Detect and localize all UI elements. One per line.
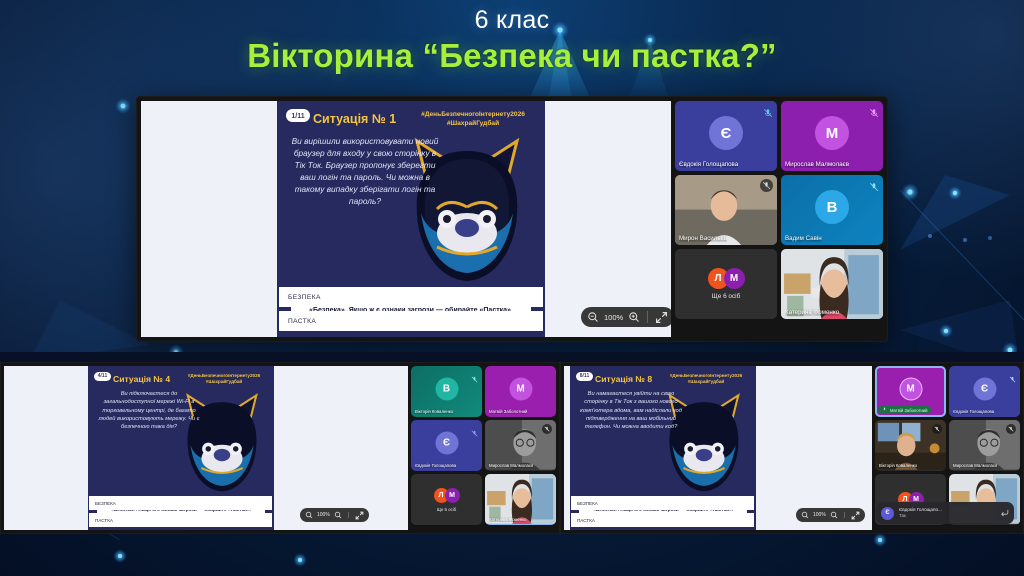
participant-tile[interactable]: Мирослав Малмолаєв <box>949 420 1020 471</box>
background-band <box>0 352 1024 362</box>
slide-hashtags: #ДеньБезпечногоІнтернету2026 #ШахрайГудб… <box>403 111 543 129</box>
hashtag-2: #ШахрайГудбай <box>658 379 754 385</box>
avatar-initial: М <box>906 384 914 395</box>
active-speaker-name-pill: Матвій Заболотний <box>878 406 931 414</box>
slide-situation-title: Ситуація № 1 <box>313 112 396 126</box>
chat-notification-toast[interactable]: Є Євдокія Голощапо... Так <box>876 502 1014 524</box>
slide-situation-title: Ситуація № 8 <box>595 374 652 384</box>
participant-name: Мирослав Малмолаєв <box>489 463 533 468</box>
avatar: Є <box>435 432 458 455</box>
participant-name: Вадим Савін <box>785 235 822 242</box>
overflow-count-label: Ще 6 осіб <box>437 507 457 512</box>
zoom-control-bar[interactable]: 100% <box>581 307 671 327</box>
slide-situation-title: Ситуація № 4 <box>113 374 170 384</box>
reply-icon[interactable] <box>1000 504 1009 522</box>
hashtag-2: #ШахрайГудбай <box>176 379 272 385</box>
mic-muted-icon <box>760 179 773 192</box>
avatar: В <box>435 378 458 401</box>
page-subtitle: 6 клас <box>0 6 1024 35</box>
participant-tile[interactable]: М Матвій Заболотний <box>875 366 946 417</box>
participants-rail-thumb-right: М Матвій Заболотний Є Євдокія Голощапова <box>872 366 1020 530</box>
participant-tile[interactable]: В Вадим Савін <box>781 175 883 245</box>
slide-question-text: Ви вирішили використовувати новий браузе… <box>291 135 439 207</box>
mic-muted-icon <box>763 105 773 123</box>
zoom-control-bar[interactable]: 100% <box>796 508 865 522</box>
avatar: Є <box>973 378 996 401</box>
mic-muted-icon <box>542 424 552 434</box>
mic-muted-icon <box>471 424 478 442</box>
main-meeting-window: 1/11 Ситуація № 1 #ДеньБезпечногоІнтерне… <box>136 96 888 342</box>
answer-option-bezpeka[interactable]: БЕЗПЕКА <box>89 496 272 510</box>
participant-tile[interactable]: М Мирослав Малмолаєв <box>781 101 883 171</box>
participant-tile[interactable]: Вікторія Коваленко <box>875 420 946 471</box>
participant-tile[interactable]: Катерина Фоменко <box>781 249 883 319</box>
zoom-out-icon[interactable] <box>305 511 313 519</box>
zoom-divider <box>647 311 648 323</box>
avatar-initial: М <box>516 384 524 395</box>
mic-muted-icon <box>932 424 942 434</box>
zoom-level-label: 100% <box>317 512 330 518</box>
avatar: М <box>509 378 532 401</box>
thumb-right-shared-screen: 8/11 Ситуація № 8 #ДеньБезпечногоІнтерне… <box>564 366 872 530</box>
zoom-control-bar[interactable]: 100% <box>300 508 369 522</box>
slide-question-text: Ви підключаєтеся до загальнодоступної ме… <box>97 390 201 431</box>
zoom-in-icon[interactable] <box>830 511 838 519</box>
overflow-avatar-2: М <box>445 488 460 503</box>
participant-name: Вікторія Коваленко <box>415 409 453 414</box>
participant-tile[interactable]: М Матвій Заболотний <box>485 366 556 417</box>
avatar: М <box>899 378 922 401</box>
thumbnail-meeting-window-left[interactable]: 4/11 Ситуація № 4 #ДеньБезпечногоІнтерне… <box>0 362 560 534</box>
participant-name: Вікторія Коваленко <box>879 463 917 468</box>
overflow-avatars: Л М <box>708 268 745 289</box>
slide-counter-badge: 4/11 <box>94 372 111 381</box>
slide-hashtags: #ДеньБезпечногоІнтернету2026 #ШахрайГудб… <box>176 373 272 385</box>
participant-tile[interactable]: Є Євдокія Голощапова <box>411 420 482 471</box>
answer-option-pastka-label: ПАСТКА <box>95 518 113 523</box>
hashtag-2: #ШахрайГудбай <box>403 120 543 129</box>
participant-tile[interactable]: Є Євдокія Голощапова <box>675 101 777 171</box>
overflow-avatar-2: М <box>724 268 745 289</box>
answer-option-bezpeka-label: БЕЗПЕКА <box>95 501 116 506</box>
avatar: М <box>815 116 849 150</box>
zoom-out-icon[interactable] <box>801 511 809 519</box>
avatar-initial: В <box>443 384 450 395</box>
mic-muted-icon <box>869 179 879 197</box>
thumb-left-shared-screen: 4/11 Ситуація № 4 #ДеньБезпечногоІнтерне… <box>4 366 408 530</box>
avatar-initial: Є <box>981 384 988 395</box>
participant-tile[interactable]: Мирослав Малмолаєв <box>485 420 556 471</box>
avatar-initial: Є <box>721 125 732 142</box>
participant-name: Мирослав Малмолаєв <box>953 463 997 468</box>
zoom-in-icon[interactable] <box>334 511 342 519</box>
zoom-in-icon[interactable] <box>628 311 640 323</box>
participant-name: Євдокія Голощапова <box>679 161 738 168</box>
zoom-out-icon[interactable] <box>587 311 599 323</box>
participant-tile[interactable]: Катерина Фоменко <box>485 474 556 525</box>
mic-muted-icon <box>1009 370 1016 388</box>
slide-hashtags: #ДеньБезпечногоІнтернету2026 #ШахрайГудб… <box>658 373 754 385</box>
fullscreen-icon[interactable] <box>655 311 668 324</box>
mic-muted-icon <box>1006 424 1016 434</box>
answer-option-pastka-label: ПАСТКА <box>577 518 595 523</box>
avatar-initial: Є <box>885 510 889 516</box>
mic-muted-icon <box>869 105 879 123</box>
chat-message-text: Так <box>899 513 995 519</box>
participant-overflow-tile[interactable]: Л М Ще 6 осіб <box>675 249 777 319</box>
answer-option-pastka-label: ПАСТКА <box>288 318 316 325</box>
zoom-level-label: 100% <box>604 313 623 322</box>
participant-tile[interactable]: Мирон Васильєв <box>675 175 777 245</box>
participant-name: Катерина Фоменко <box>489 517 527 522</box>
avatar-initial: В <box>827 199 838 216</box>
participant-name: Мирон Васильєв <box>679 235 727 242</box>
overflow-avatars: Л М <box>434 488 460 503</box>
answer-option-pastka[interactable]: ПАСТКА <box>89 513 272 527</box>
answer-option-bezpeka-label: БЕЗПЕКА <box>577 501 598 506</box>
fullscreen-icon[interactable] <box>355 511 364 520</box>
mic-muted-icon <box>471 370 478 388</box>
participants-rail-main: Є Євдокія Голощапова М Мирослав Малмолає… <box>671 101 883 337</box>
avatar: Є <box>881 507 894 520</box>
answer-option-pastka[interactable]: ПАСТКА <box>279 311 543 331</box>
answer-option-pastka[interactable]: ПАСТКА <box>571 513 754 527</box>
answer-option-bezpeka-label: БЕЗПЕКА <box>288 294 321 301</box>
participants-rail-thumb-left: В Вікторія Коваленко М Матвій Заболотний… <box>408 366 556 530</box>
avatar-initial: М <box>826 125 839 142</box>
mic-active-icon <box>882 407 887 413</box>
zoom-divider <box>844 512 845 518</box>
chat-toast-content: Євдокія Голощапо... Так <box>899 507 995 518</box>
slide-counter-badge: 8/11 <box>576 372 593 381</box>
avatar: Є <box>709 116 743 150</box>
avatar-initial: Є <box>443 438 450 449</box>
participant-name: Євдокія Голощапова <box>953 409 994 414</box>
participant-name: Катерина Фоменко <box>785 309 839 316</box>
answer-option-bezpeka[interactable]: БЕЗПЕКА <box>571 496 754 510</box>
participant-name: Матвій Заболотний <box>489 409 527 414</box>
fullscreen-icon[interactable] <box>851 511 860 520</box>
slide-counter-badge: 1/11 <box>286 109 310 122</box>
zoom-level-label: 100% <box>813 512 826 518</box>
page-title-block: 6 клас Вікторина “Безпека чи пастка?” <box>0 6 1024 75</box>
slide-question-text: Ви намагаєтеся увійти на свою сторінку в… <box>579 390 683 431</box>
participant-overflow-tile[interactable]: Л М Ще 6 осіб <box>411 474 482 525</box>
participant-name: Матвій Заболотний <box>890 408 927 413</box>
participant-tile[interactable]: Є Євдокія Голощапова <box>949 366 1020 417</box>
overflow-count-label: Ще 6 осіб <box>712 293 740 300</box>
participant-name: Мирослав Малмолаєв <box>785 161 849 168</box>
page-title: Вікторина “Безпека чи пастка?” <box>0 37 1024 75</box>
avatar: В <box>815 190 849 224</box>
participant-tile[interactable]: В Вікторія Коваленко <box>411 366 482 417</box>
hashtag-1: #ДеньБезпечногоІнтернету2026 <box>403 111 543 120</box>
participant-name: Євдокія Голощапова <box>415 463 456 468</box>
answer-option-bezpeka[interactable]: БЕЗПЕКА <box>279 287 543 307</box>
zoom-divider <box>348 512 349 518</box>
thumbnail-meeting-window-right[interactable]: 8/11 Ситуація № 8 #ДеньБезпечногоІнтерне… <box>560 362 1024 534</box>
main-shared-screen: 1/11 Ситуація № 1 #ДеньБезпечногоІнтерне… <box>141 101 671 337</box>
